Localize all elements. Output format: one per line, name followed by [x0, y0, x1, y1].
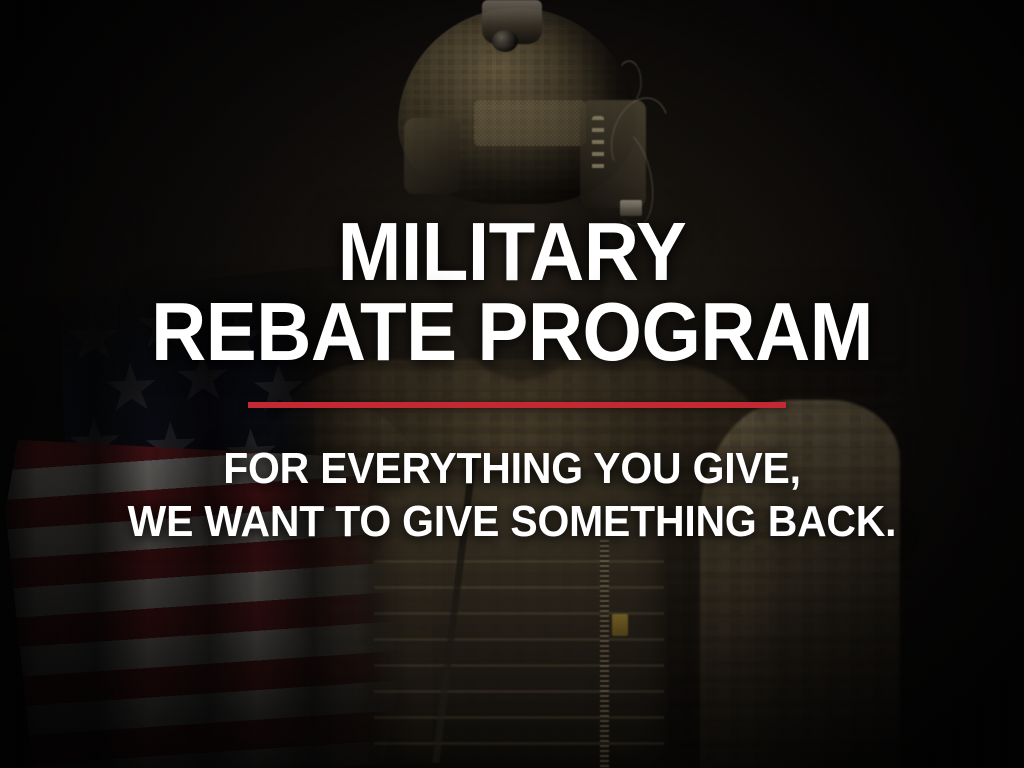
text-overlay: MILITARY REBATE PROGRAM FOR EVERYTHING Y…: [0, 0, 1024, 768]
subheadline-line-1: FOR EVERYTHING YOU GIVE,: [36, 447, 988, 491]
headline-line-1: MILITARY: [41, 212, 983, 292]
subheadline-line-2: WE WANT TO GIVE SOMETHING BACK.: [36, 500, 988, 544]
military-rebate-poster: MILITARY REBATE PROGRAM FOR EVERYTHING Y…: [0, 0, 1024, 768]
red-divider-rule: [248, 402, 786, 408]
headline-line-2: REBATE PROGRAM: [41, 292, 983, 372]
